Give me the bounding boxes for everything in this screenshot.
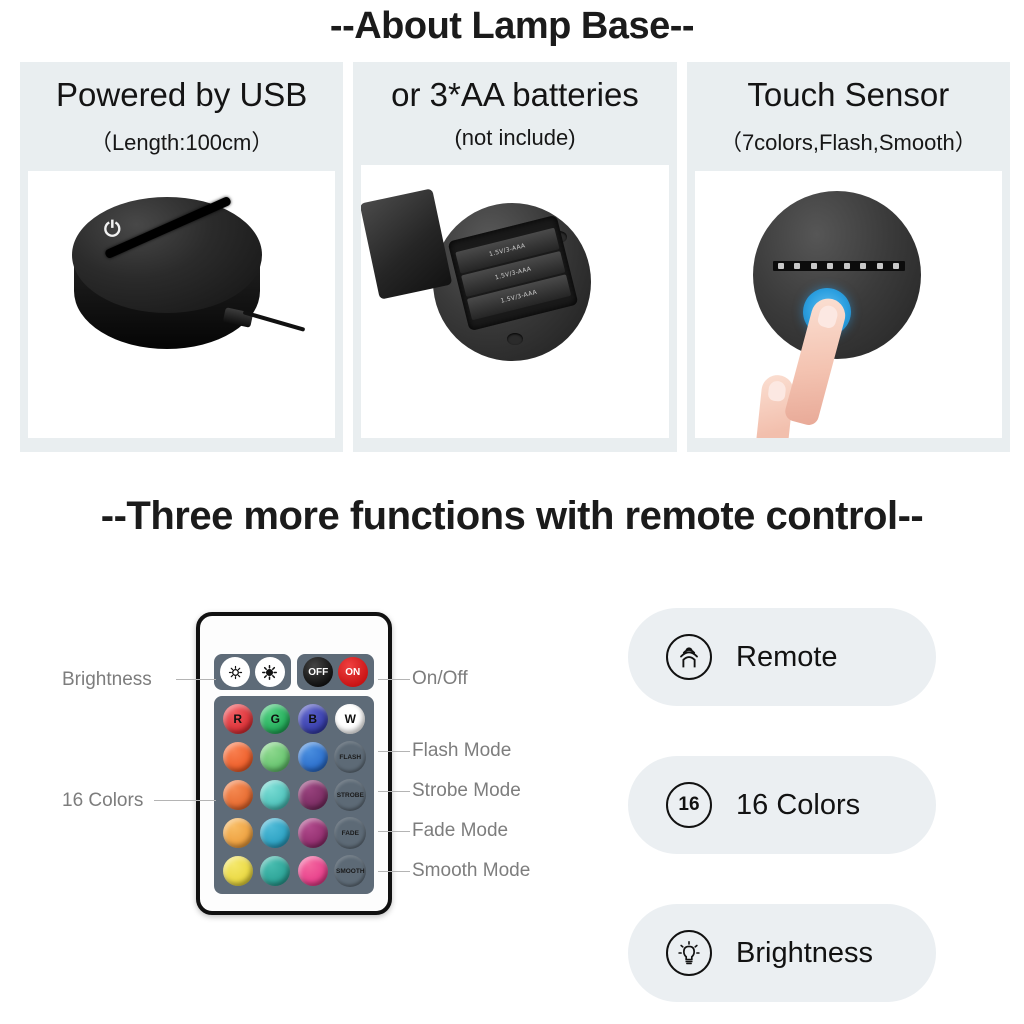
led-dot bbox=[778, 263, 784, 269]
panel-title: Powered by USB bbox=[56, 74, 307, 115]
color-button-pink[interactable] bbox=[298, 856, 328, 886]
remote-top-row: OFF ON bbox=[214, 654, 374, 690]
pill-brightness[interactable]: Brightness bbox=[628, 904, 936, 1002]
panel-title: or 3*AA batteries bbox=[391, 74, 639, 115]
color-button-blue[interactable]: B bbox=[298, 704, 328, 734]
smooth-mode-button[interactable]: SMOOTH bbox=[334, 855, 366, 887]
pill-remote[interactable]: Remote bbox=[628, 608, 936, 706]
usb-cable bbox=[243, 311, 306, 332]
leader-line bbox=[176, 679, 216, 680]
remote-signal-icon bbox=[666, 634, 712, 680]
bulb-glyph bbox=[674, 938, 704, 968]
screw-hole bbox=[507, 333, 523, 345]
led-strip bbox=[773, 261, 905, 271]
fingernail bbox=[816, 304, 839, 330]
leader-line bbox=[378, 871, 410, 872]
page-title-about-lamp-base: --About Lamp Base-- bbox=[0, 5, 1024, 48]
panel-aa-batteries: or 3*AA batteries (not include) 1.5V/3-A… bbox=[353, 62, 676, 452]
remote-button-grid: R G B W FLASH STROBE FADE SMOOTH bbox=[214, 696, 374, 894]
color-button-teal[interactable] bbox=[260, 856, 290, 886]
color-button-orange[interactable] bbox=[223, 780, 253, 810]
pill-16-colors[interactable]: 16 16 Colors bbox=[628, 756, 936, 854]
color-button-red[interactable]: R bbox=[223, 704, 253, 734]
fingernail bbox=[767, 380, 786, 402]
leader-line bbox=[154, 800, 216, 801]
led-dot bbox=[794, 263, 800, 269]
color-button-purple[interactable] bbox=[298, 780, 328, 810]
brightness-callout: Brightness bbox=[62, 669, 152, 691]
panel-subtitle: (not include) bbox=[454, 125, 575, 151]
strobe-mode-button[interactable]: STROBE bbox=[334, 779, 366, 811]
color-button-magenta-dark[interactable] bbox=[298, 818, 328, 848]
led-dot bbox=[893, 263, 899, 269]
power-symbol-icon: ⏻ bbox=[104, 219, 121, 240]
colors-callout: 16 Colors bbox=[62, 790, 143, 812]
color-button-white[interactable]: W bbox=[335, 704, 365, 734]
color-button-yellow[interactable] bbox=[223, 856, 253, 886]
leader-line bbox=[378, 831, 410, 832]
remote-signal-glyph bbox=[674, 642, 704, 672]
sixteen-icon: 16 bbox=[666, 782, 712, 828]
led-dot bbox=[811, 263, 817, 269]
page-title-three-more-functions: --Three more functions with remote contr… bbox=[0, 494, 1024, 539]
remote-control: OFF ON R G B W FLASH STROBE FADE bbox=[196, 612, 392, 915]
fade-mode-button[interactable]: FADE bbox=[334, 817, 366, 849]
power-pad: OFF ON bbox=[297, 654, 374, 690]
strobe-mode-callout: Strobe Mode bbox=[412, 780, 521, 802]
panel-touch-sensor: Touch Sensor （7colors,Flash,Smooth） bbox=[687, 62, 1010, 452]
leader-line bbox=[378, 751, 410, 752]
fade-mode-callout: Fade Mode bbox=[412, 820, 508, 842]
leader-line bbox=[378, 791, 410, 792]
bulb-icon bbox=[666, 930, 712, 976]
panel-title: Touch Sensor bbox=[747, 74, 949, 115]
smooth-mode-callout: Smooth Mode bbox=[412, 860, 530, 882]
brightness-pad bbox=[214, 654, 291, 690]
battery-cover-lid bbox=[361, 189, 452, 300]
color-button-orange-red[interactable] bbox=[223, 742, 253, 772]
lamp-base-top bbox=[72, 197, 262, 313]
led-dot bbox=[877, 263, 883, 269]
on-button[interactable]: ON bbox=[338, 657, 368, 687]
led-dot bbox=[860, 263, 866, 269]
flash-mode-callout: Flash Mode bbox=[412, 740, 511, 762]
off-button[interactable]: OFF bbox=[303, 657, 333, 687]
panel-powered-by-usb: Powered by USB （Length:100cm） ⏻ bbox=[20, 62, 343, 452]
panel-subtitle: （Length:100cm） bbox=[90, 125, 273, 157]
led-dot bbox=[844, 263, 850, 269]
onoff-callout: On/Off bbox=[412, 668, 468, 690]
color-button-green[interactable]: G bbox=[260, 704, 290, 734]
color-button-cyan[interactable] bbox=[260, 780, 290, 810]
pill-label: 16 Colors bbox=[736, 789, 860, 822]
color-button-teal-blue[interactable] bbox=[260, 818, 290, 848]
pill-label: Brightness bbox=[736, 937, 873, 970]
pill-label: Remote bbox=[736, 641, 838, 674]
color-button-amber[interactable] bbox=[223, 818, 253, 848]
flash-mode-button[interactable]: FLASH bbox=[334, 741, 366, 773]
sun-small-icon bbox=[227, 664, 244, 681]
product-info-page: --About Lamp Base-- Powered by USB （Leng… bbox=[0, 0, 1024, 1024]
brightness-up-button[interactable] bbox=[255, 657, 285, 687]
led-dot bbox=[827, 263, 833, 269]
sun-large-icon bbox=[261, 664, 278, 681]
usb-lamp-base-photo: ⏻ bbox=[28, 171, 335, 438]
battery-compartment-photo: 1.5V/3-AAA 1.5V/3-AAA 1.5V/3-AAA bbox=[361, 165, 668, 438]
feature-pills: Remote 16 16 Colors bbox=[628, 608, 936, 1024]
feature-panels: Powered by USB （Length:100cm） ⏻ or 3*AA … bbox=[20, 62, 1010, 452]
leader-line bbox=[378, 679, 410, 680]
sixteen-icon-text: 16 bbox=[678, 794, 699, 816]
panel-subtitle: （7colors,Flash,Smooth） bbox=[720, 125, 977, 157]
brightness-down-button[interactable] bbox=[220, 657, 250, 687]
color-button-light-green[interactable] bbox=[260, 742, 290, 772]
color-button-blue-2[interactable] bbox=[298, 742, 328, 772]
touch-sensor-photo bbox=[695, 171, 1002, 438]
